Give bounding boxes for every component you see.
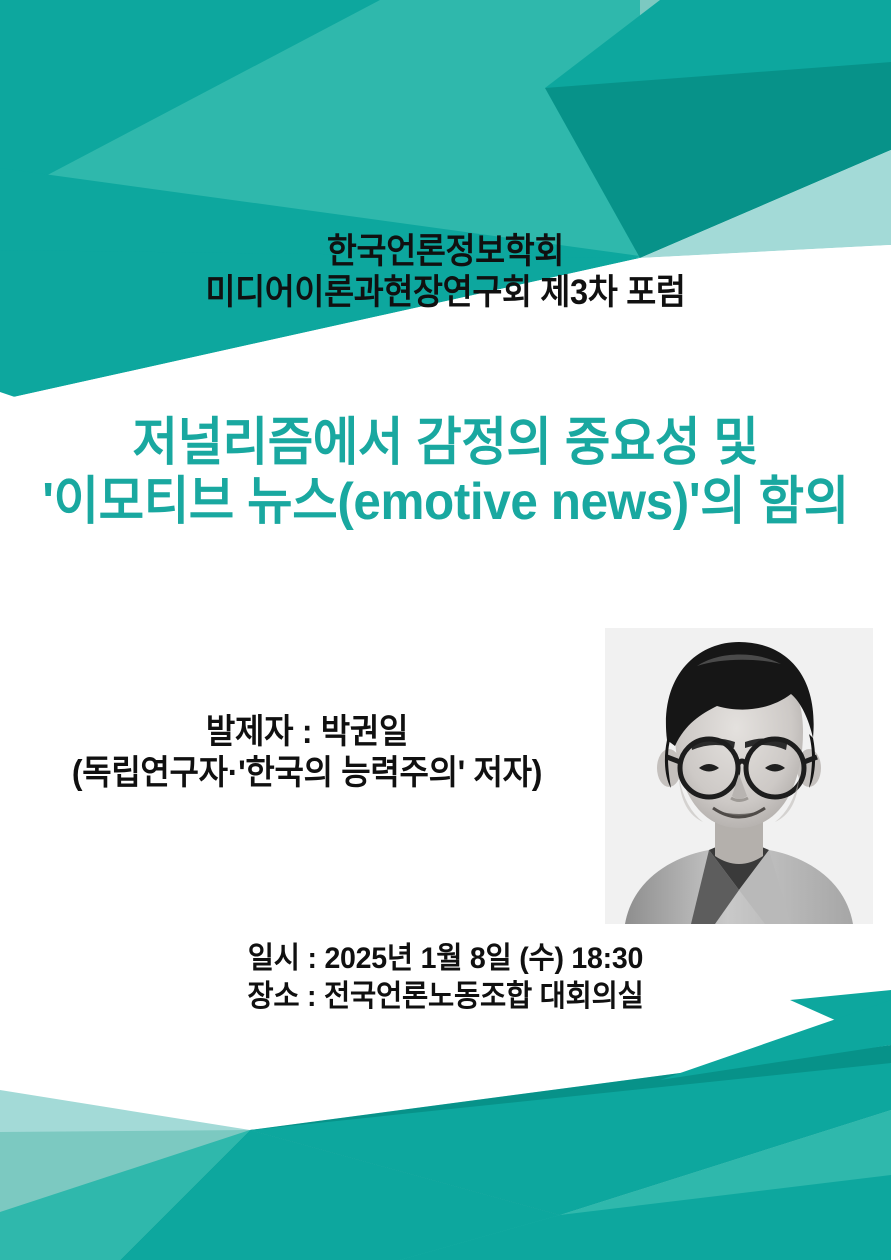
event-details: 일시 : 2025년 1월 8일 (수) 18:30 장소 : 전국언론노동조합… [0, 940, 891, 1017]
page-title: 저널리즘에서 감정의 중요성 및 '이모티브 뉴스(emotive news)'… [0, 414, 891, 532]
event-name: 미디어이론과현장연구회 제3차 포럼 [31, 273, 860, 314]
header-block: 한국언론정보학회 미디어이론과현장연구회 제3차 포럼 [0, 232, 891, 313]
poster-canvas: 한국언론정보학회 미디어이론과현장연구회 제3차 포럼 저널리즘에서 감정의 중… [0, 0, 891, 1260]
organization-name: 한국언론정보학회 [31, 232, 860, 273]
event-venue: 장소 : 전국언론노동조합 대회의실 [22, 978, 868, 1016]
speaker-affiliation: (독립연구자·'한국의 능력주의' 저자) [35, 753, 578, 794]
title-line-1: 저널리즘에서 감정의 중요성 및 [22, 414, 868, 473]
speaker-info: 발제자 : 박권일 (독립연구자·'한국의 능력주의' 저자) [18, 712, 596, 794]
speaker-name: 발제자 : 박권일 [35, 712, 578, 753]
title-line-2: '이모티브 뉴스(emotive news)'의 함의 [22, 473, 868, 532]
event-datetime: 일시 : 2025년 1월 8일 (수) 18:30 [22, 940, 868, 978]
portrait-illustration [605, 628, 873, 924]
poster-content: 한국언론정보학회 미디어이론과현장연구회 제3차 포럼 저널리즘에서 감정의 중… [0, 0, 891, 1260]
speaker-portrait-photo [605, 628, 873, 924]
